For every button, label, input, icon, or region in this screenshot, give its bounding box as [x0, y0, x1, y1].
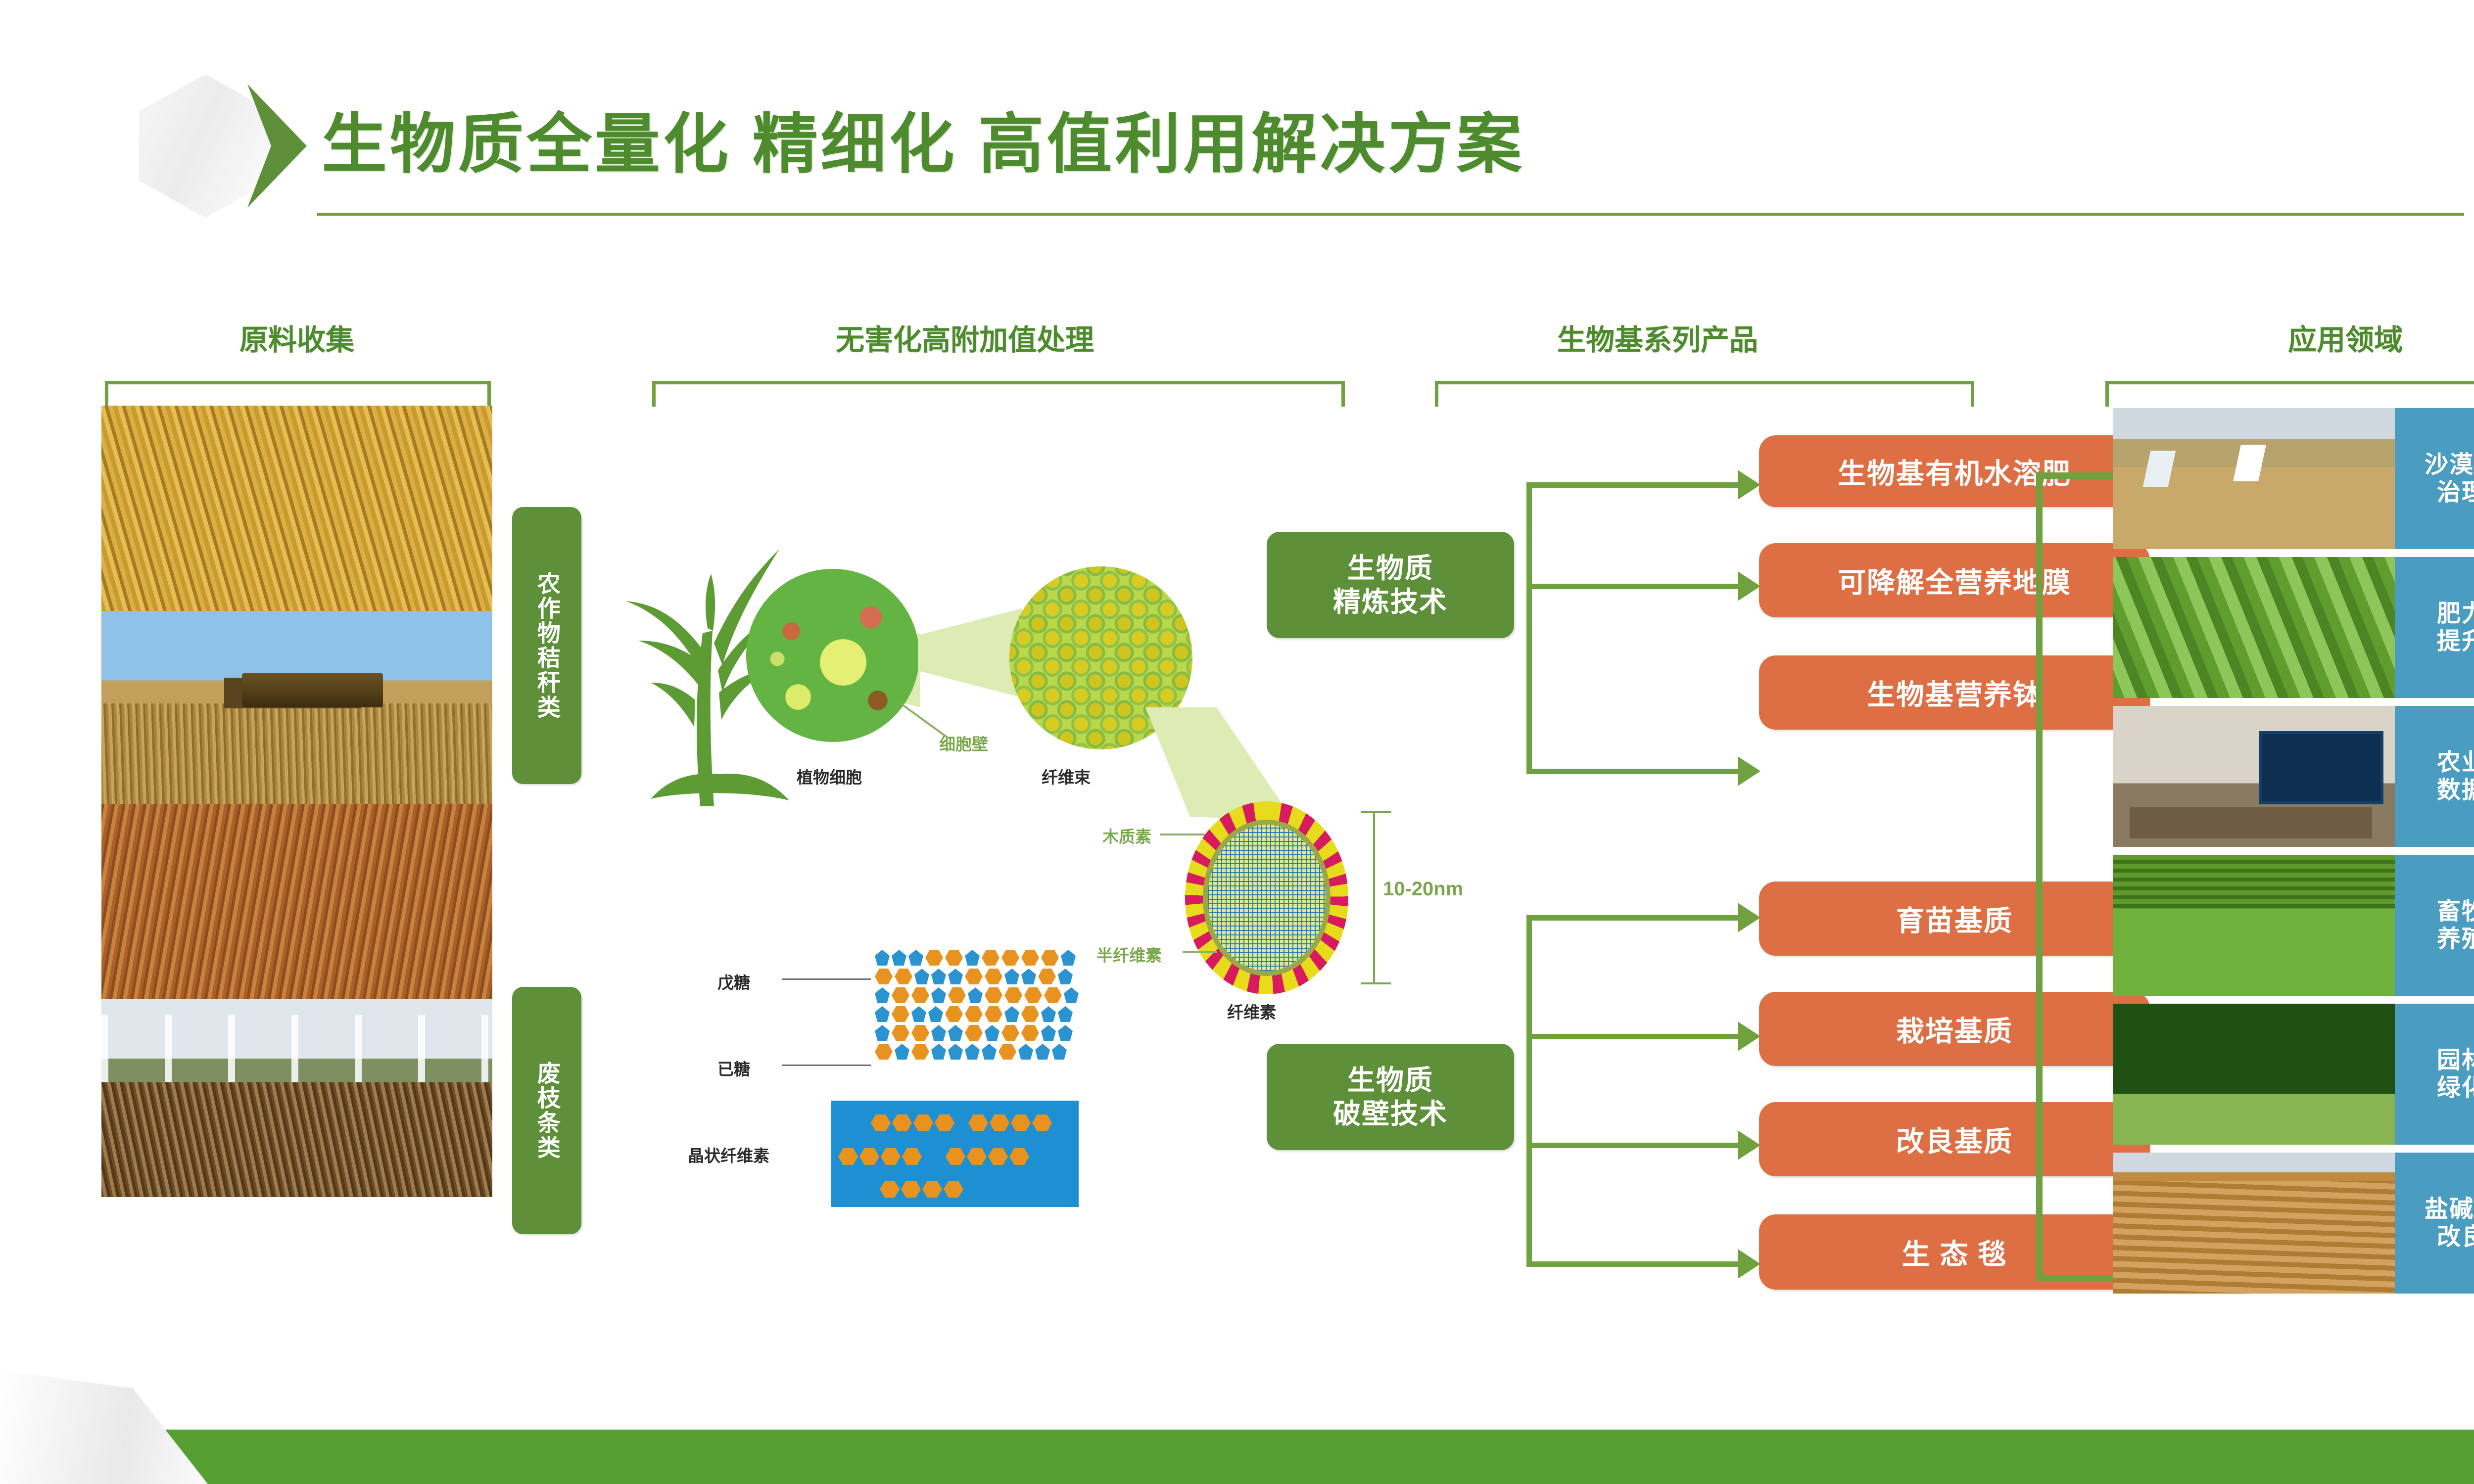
- zoom-beam-cell-to-fiber: [918, 608, 1022, 697]
- tech-box-biomass-wall-breaking[interactable]: 生物质 破壁技术: [1267, 1044, 1514, 1150]
- application-label-line-1: 盐碱地: [2425, 1196, 2474, 1223]
- cellulose-core: [1208, 825, 1326, 971]
- application-row-agri-data[interactable]: 农业 数据: [2113, 706, 2474, 847]
- application-label-line-2: 治理: [2437, 479, 2474, 507]
- label-fiber-bundle: 纤维束: [1042, 764, 1091, 788]
- application-image: [2113, 557, 2395, 698]
- title-divider: [317, 213, 2464, 216]
- tech-line-2: 破壁技术: [1333, 1097, 1448, 1130]
- connector-branch: [1526, 1261, 1739, 1267]
- arrow-icon: [1738, 1021, 1760, 1051]
- label-dimension: 10-20nm: [1383, 878, 1463, 900]
- connector-trunk-refining: [1526, 482, 1532, 774]
- leader-line-pentose: [782, 978, 871, 980]
- section-header-products: 生物基系列产品: [1435, 317, 1880, 358]
- application-image: [2113, 1153, 2395, 1294]
- section-bracket-products: [1435, 381, 1974, 407]
- section-header-applications: 应用领域: [2142, 317, 2474, 358]
- application-label-line-2: 改良: [2437, 1223, 2474, 1251]
- connector-branch: [1526, 1143, 1739, 1148]
- application-label-line-1: 园林: [2437, 1047, 2474, 1074]
- arrow-icon: [1738, 756, 1760, 786]
- arrow-icon: [1738, 903, 1760, 932]
- application-tag: 畜牧 养殖: [2395, 855, 2474, 996]
- connector-branch: [1526, 769, 1739, 774]
- label-lignin: 木质素: [1102, 824, 1151, 847]
- arrow-icon: [1738, 470, 1760, 500]
- feedstock-photo: [101, 804, 492, 999]
- leader-line-hexose: [782, 1065, 871, 1066]
- feedstock-photo: [101, 611, 492, 804]
- label-crystalline-cellulose: 晶状纤维素: [688, 1143, 769, 1166]
- application-tag: 农业 数据: [2395, 706, 2474, 847]
- application-image: [2113, 706, 2395, 847]
- leader-line-cell-wall: [900, 702, 949, 739]
- application-label-line-2: 数据: [2437, 777, 2474, 804]
- connector-branch: [1526, 482, 1739, 488]
- page-title: 生物质全量化 精细化 高值利用解决方案: [322, 92, 1524, 186]
- section-bracket-processing: [652, 381, 1345, 407]
- tech-line-2: 精炼技术: [1333, 585, 1448, 618]
- application-label-line-2: 养殖: [2437, 926, 2474, 953]
- label-hemicellulose: 半纤维素: [1096, 942, 1162, 966]
- footer-corner-decoration: [0, 1370, 208, 1484]
- application-image: [2113, 408, 2395, 549]
- application-tag: 园林 绿化: [2395, 1004, 2474, 1145]
- leader-line-lignin: [1160, 834, 1205, 835]
- label-plant-cell: 植物细胞: [797, 764, 862, 788]
- feedstock-tag-crop-straw[interactable]: 农作物秸秆类: [512, 507, 581, 784]
- application-label-line-1: 农业: [2437, 749, 2474, 777]
- application-label-line-1: 肥力: [2437, 600, 2474, 628]
- connector-branch: [1526, 584, 1739, 589]
- feedstock-photo: [101, 999, 492, 1197]
- connector-trunk-wallbreaking: [1526, 915, 1532, 1266]
- fiber-cross-section-illustration: [1185, 801, 1348, 994]
- arrow-icon: [1738, 1130, 1760, 1160]
- application-row-fertility[interactable]: 肥力 提升: [2113, 557, 2474, 698]
- application-tag: 肥力 提升: [2395, 557, 2474, 698]
- application-label-line-1: 畜牧: [2437, 898, 2474, 926]
- tech-box-biomass-refining[interactable]: 生物质 精炼技术: [1267, 532, 1514, 638]
- label-cell-wall: 细胞壁: [939, 731, 988, 755]
- plant-cell-illustration: [746, 569, 919, 742]
- arrow-icon: [1738, 1249, 1760, 1279]
- arrow-icon: [1738, 571, 1760, 601]
- label-cellulose: 纤维素: [1227, 999, 1276, 1023]
- label-pentose: 戊糖: [717, 970, 750, 993]
- application-label-line-1: 沙漠化: [2425, 451, 2474, 479]
- dimension-line: [1373, 811, 1375, 984]
- label-hexose: 已糖: [717, 1056, 750, 1080]
- application-tag: 盐碱地 改良: [2395, 1153, 2474, 1294]
- application-tag: 沙漠化 治理: [2395, 408, 2474, 549]
- section-bracket-feedstock: [105, 381, 491, 407]
- footer-bar: [0, 1430, 2474, 1484]
- application-label-line-2: 提升: [2437, 628, 2474, 655]
- tech-line-1: 生物质: [1347, 552, 1433, 585]
- application-row-desertification[interactable]: 沙漠化 治理: [2113, 408, 2474, 549]
- leader-line-hemicellulose: [1183, 951, 1217, 953]
- application-label-line-2: 绿化: [2437, 1074, 2474, 1102]
- sugar-chain-diagram: [875, 950, 1079, 1063]
- connector-branch: [1526, 1034, 1739, 1039]
- connector-branch: [1526, 915, 1739, 921]
- crystalline-cellulose-diagram: [831, 1101, 1079, 1207]
- section-bracket-applications: [2105, 381, 2474, 407]
- application-row-landscaping[interactable]: 园林 绿化: [2113, 1004, 2474, 1145]
- tech-line-1: 生物质: [1347, 1064, 1433, 1097]
- application-row-saline-land[interactable]: 盐碱地 改良: [2113, 1153, 2474, 1294]
- application-image: [2113, 1004, 2395, 1145]
- feedstock-photo-column: [101, 406, 492, 1197]
- application-image: [2113, 855, 2395, 996]
- application-row-livestock[interactable]: 畜牧 养殖: [2113, 855, 2474, 996]
- feedstock-tag-waste-branches[interactable]: 废枝条类: [512, 987, 581, 1234]
- section-header-processing: 无害化高附加值处理: [717, 317, 1212, 358]
- feedstock-photo: [101, 406, 492, 611]
- section-header-feedstock: 原料收集: [178, 317, 416, 358]
- slide-canvas: 生物质全量化 精细化 高值利用解决方案 原料收集 无害化高附加值处理 生物基系列…: [0, 0, 2474, 1484]
